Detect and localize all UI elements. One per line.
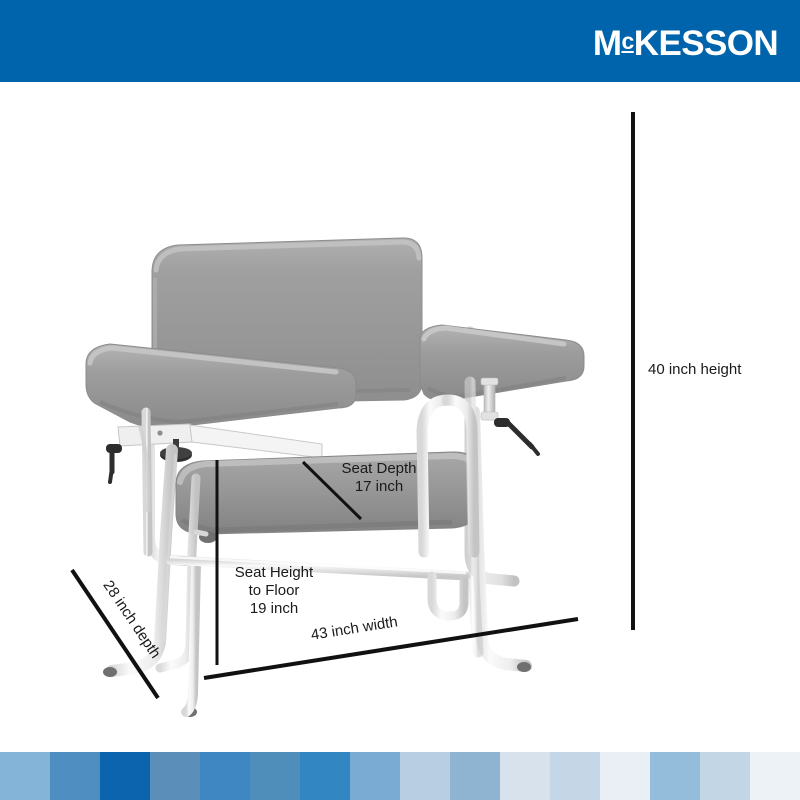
product-dimension-diagram: McKESSON (0, 0, 800, 800)
footer-swatch-3 (150, 752, 200, 800)
seat-height-label-line3: 19 inch (250, 600, 298, 617)
footer-swatch-11 (550, 752, 600, 800)
logo-letter-c: c (621, 28, 633, 54)
footer-swatch-5 (250, 752, 300, 800)
seat-depth-label-line2: 17 inch (355, 478, 403, 495)
footer-swatch-15 (750, 752, 800, 800)
logo-text-rest: KESSON (634, 24, 778, 63)
armrest-right-lever[interactable] (494, 418, 538, 454)
footer-swatch-4 (200, 752, 250, 800)
chair-illustration: 40 inch height 43 inch width 28 inch dep… (0, 82, 800, 737)
footer-swatch-2 (100, 752, 150, 800)
seat-cushion (176, 452, 478, 534)
height-dimension-label: 40 inch height (648, 361, 742, 378)
footer-swatch-10 (500, 752, 550, 800)
illustration-area: 40 inch height 43 inch width 28 inch dep… (0, 82, 800, 737)
footer-swatch-1 (50, 752, 100, 800)
footer-swatch-0 (0, 752, 50, 800)
seat-height-label-line2: to Floor (249, 582, 300, 599)
footer-swatch-8 (400, 752, 450, 800)
footer-swatch-12 (600, 752, 650, 800)
footer-swatch-7 (350, 752, 400, 800)
armrest-right (420, 325, 584, 401)
logo-letter-m: M (593, 24, 622, 63)
seat-height-label-line1: Seat Height (235, 564, 314, 581)
footer-color-strip (0, 752, 800, 800)
armrest-right-post (481, 378, 498, 420)
seat-depth-label-line1: Seat Depth (341, 460, 416, 477)
chair-graphic (86, 238, 584, 717)
width-dimension-label: 43 inch width (310, 613, 399, 643)
footer-swatch-9 (450, 752, 500, 800)
depth-dimension-label: 28 inch depth (99, 577, 163, 661)
footer-swatch-13 (650, 752, 700, 800)
footer-swatch-14 (700, 752, 750, 800)
header-bar: McKESSON (0, 0, 800, 82)
mckesson-logo: McKESSON (593, 22, 778, 63)
footer-swatch-6 (300, 752, 350, 800)
